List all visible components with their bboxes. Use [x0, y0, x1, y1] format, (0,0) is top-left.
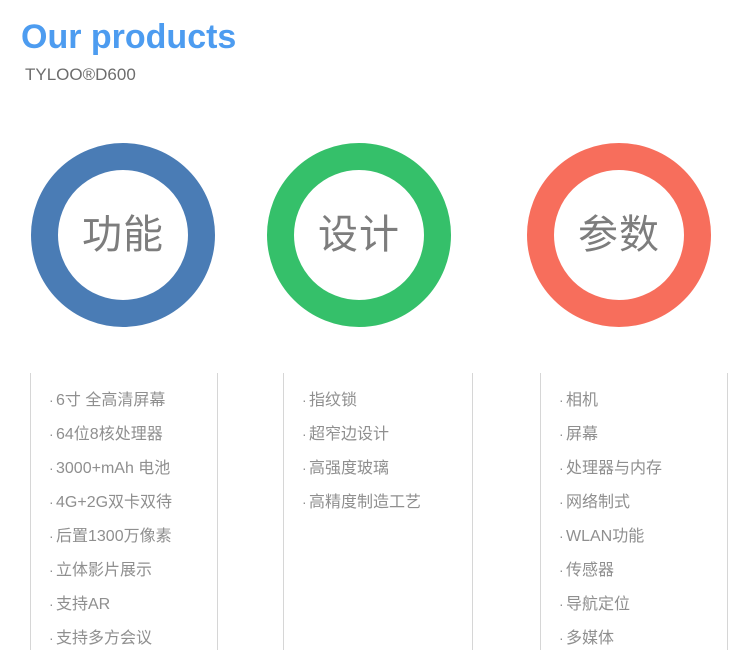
bullet-icon: · [49, 425, 56, 444]
feature-item: ·支持AR [31, 595, 217, 614]
feature-item-label: 高精度制造工艺 [309, 493, 421, 512]
bullet-icon: · [49, 629, 56, 648]
bullet-icon: · [49, 561, 56, 580]
feature-item: ·立体影片展示 [31, 561, 217, 580]
bullet-icon: · [302, 493, 309, 512]
feature-item-label: 超窄边设计 [309, 425, 389, 444]
category-circle-specs[interactable]: 参数 [527, 143, 711, 327]
feature-item-label: 导航定位 [566, 595, 630, 614]
feature-item: ·传感器 [541, 561, 727, 580]
category-circle-label: 功能 [82, 170, 164, 300]
bullet-icon: · [49, 493, 56, 512]
feature-list: ·6寸 全高清屏幕·64位8核处理器·3000+mAh 电池·4G+2G双卡双待… [31, 373, 217, 648]
feature-list: ·相机·屏幕·处理器与内存·网络制式·WLAN功能·传感器·导航定位·多媒体 [541, 373, 727, 648]
bullet-icon: · [559, 561, 566, 580]
bullet-icon: · [559, 425, 566, 444]
feature-item-label: 6寸 全高清屏幕 [56, 391, 165, 410]
feature-item-label: 处理器与内存 [566, 459, 662, 478]
page-subtitle: TYLOO®D600 [25, 64, 136, 86]
bullet-icon: · [302, 459, 309, 478]
feature-item-label: 立体影片展示 [56, 561, 152, 580]
feature-item-label: 4G+2G双卡双待 [56, 493, 172, 512]
bullet-icon: · [49, 595, 56, 614]
feature-item-label: WLAN功能 [566, 527, 644, 546]
category-circle-function[interactable]: 功能 [31, 143, 215, 327]
bullet-icon: · [559, 459, 566, 478]
feature-item: ·6寸 全高清屏幕 [31, 391, 217, 410]
feature-item: ·高强度玻璃 [284, 459, 472, 478]
feature-item-label: 网络制式 [566, 493, 630, 512]
feature-item-label: 后置1300万像素 [56, 527, 172, 546]
feature-item: ·WLAN功能 [541, 527, 727, 546]
feature-item: ·4G+2G双卡双待 [31, 493, 217, 512]
feature-column-design: ·指纹锁·超窄边设计·高强度玻璃·高精度制造工艺 [283, 373, 473, 650]
feature-column-specs: ·相机·屏幕·处理器与内存·网络制式·WLAN功能·传感器·导航定位·多媒体 [540, 373, 728, 650]
bullet-icon: · [559, 493, 566, 512]
bullet-icon: · [49, 527, 56, 546]
bullet-icon: · [49, 459, 56, 478]
feature-columns: ·6寸 全高清屏幕·64位8核处理器·3000+mAh 电池·4G+2G双卡双待… [0, 373, 750, 650]
feature-item-label: 屏幕 [566, 425, 598, 444]
bullet-icon: · [559, 527, 566, 546]
page-title: Our products [21, 17, 236, 57]
feature-item: ·64位8核处理器 [31, 425, 217, 444]
feature-item-label: 传感器 [566, 561, 614, 580]
feature-list: ·指纹锁·超窄边设计·高强度玻璃·高精度制造工艺 [284, 373, 472, 512]
feature-item: ·3000+mAh 电池 [31, 459, 217, 478]
feature-item-label: 高强度玻璃 [309, 459, 389, 478]
feature-item-label: 64位8核处理器 [56, 425, 163, 444]
category-circle-label: 设计 [318, 170, 400, 300]
category-circles: 功能 设计 参数 [0, 143, 750, 328]
bullet-icon: · [49, 391, 56, 410]
feature-item: ·多媒体 [541, 629, 727, 648]
feature-item: ·高精度制造工艺 [284, 493, 472, 512]
bullet-icon: · [559, 629, 566, 648]
feature-item-label: 支持AR [56, 595, 110, 614]
feature-item: ·指纹锁 [284, 391, 472, 410]
feature-item: ·网络制式 [541, 493, 727, 512]
feature-item-label: 相机 [566, 391, 598, 410]
feature-item: ·相机 [541, 391, 727, 410]
bullet-icon: · [559, 391, 566, 410]
category-circle-label: 参数 [578, 170, 660, 300]
feature-item-label: 指纹锁 [309, 391, 357, 410]
feature-item: ·支持多方会议 [31, 629, 217, 648]
feature-item: ·后置1300万像素 [31, 527, 217, 546]
feature-item: ·屏幕 [541, 425, 727, 444]
bullet-icon: · [302, 425, 309, 444]
bullet-icon: · [559, 595, 566, 614]
feature-column-function: ·6寸 全高清屏幕·64位8核处理器·3000+mAh 电池·4G+2G双卡双待… [30, 373, 218, 650]
feature-item-label: 多媒体 [566, 629, 614, 648]
feature-item-label: 支持多方会议 [56, 629, 152, 648]
feature-item: ·导航定位 [541, 595, 727, 614]
feature-item: ·处理器与内存 [541, 459, 727, 478]
feature-item-label: 3000+mAh 电池 [56, 459, 170, 478]
feature-item: ·超窄边设计 [284, 425, 472, 444]
bullet-icon: · [302, 391, 309, 410]
category-circle-design[interactable]: 设计 [267, 143, 451, 327]
